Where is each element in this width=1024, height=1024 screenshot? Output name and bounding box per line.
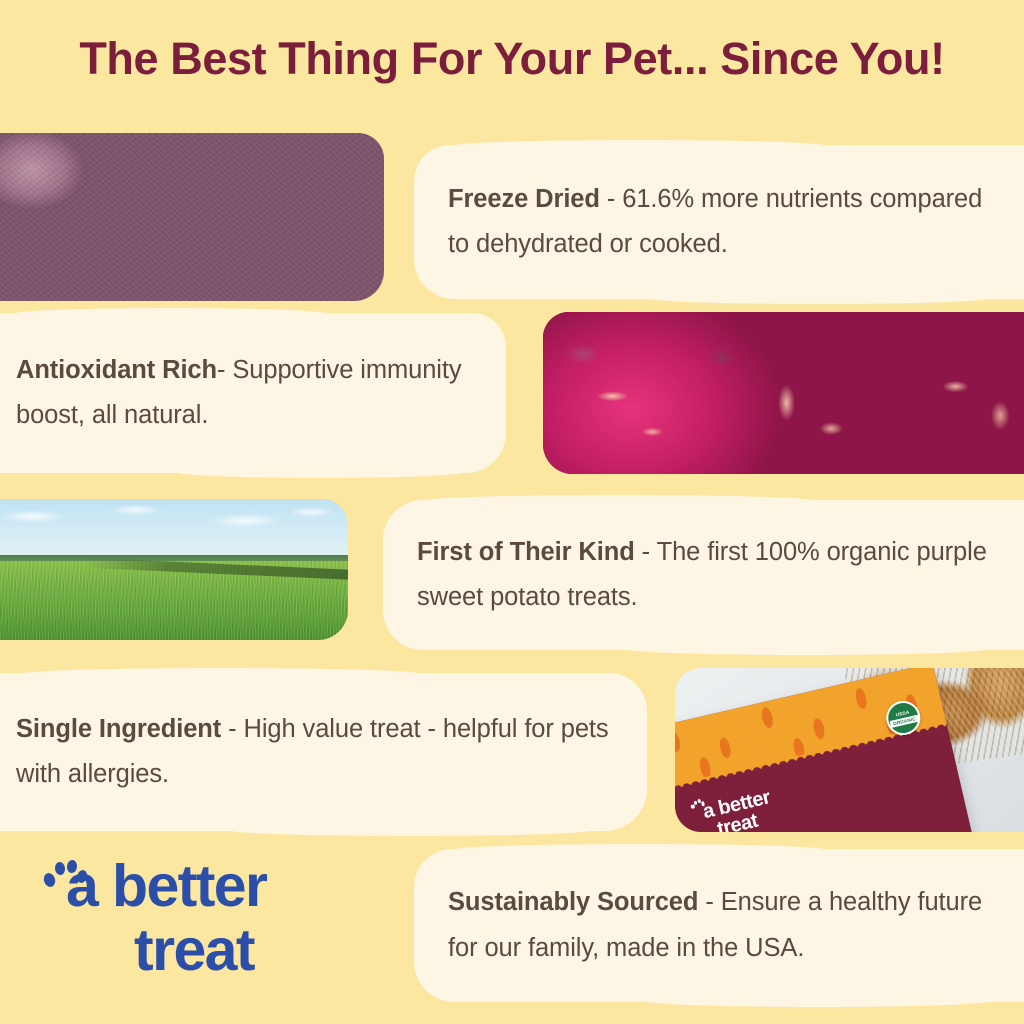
feature-title-freeze-dried: Freeze Dried [448, 185, 600, 213]
freeze-dried-grain [0, 133, 384, 301]
feature-text-antioxidant-rich: Antioxidant Rich- Supportive immunity bo… [0, 348, 506, 439]
feature-card-antioxidant-rich: Antioxidant Rich- Supportive immunity bo… [0, 313, 506, 473]
feature-text-freeze-dried: Freeze Dried - 61.6% more nutrients comp… [414, 177, 1024, 268]
photo-raw-purple-sweet-potatoes [543, 312, 1024, 474]
photo-green-farm-field [0, 499, 348, 640]
feature-card-first-of-their-kind: First of Their Kind - The first 100% org… [383, 500, 1024, 650]
brand-logo: a better treat [38, 856, 368, 996]
feature-text-first-of-their-kind: First of Their Kind - The first 100% org… [383, 530, 1024, 621]
feature-title-first-of-their-kind: First of Their Kind [417, 538, 635, 566]
page-title: The Best Thing For Your Pet... Since You… [0, 34, 1024, 84]
feature-separator-antioxidant-rich: - [217, 356, 232, 384]
feature-card-freeze-dried: Freeze Dried - 61.6% more nutrients comp… [414, 145, 1024, 299]
photo-product-package-with-dog: a better treat ORGANIC SWE FREEZE USDA O… [675, 668, 1024, 832]
feature-card-single-ingredient: Single Ingredient - High value treat - h… [0, 673, 647, 831]
feature-text-single-ingredient: Single Ingredient - High value treat - h… [0, 707, 647, 798]
feature-separator-freeze-dried: - [600, 185, 622, 213]
feature-separator-sustainably-sourced: - [698, 888, 720, 916]
seal-band-text: ORGANIC [890, 715, 919, 728]
photo-freeze-dried-chunks [0, 133, 384, 301]
paw-icon [44, 860, 84, 893]
pouch-brand-logo: a better treat [701, 788, 777, 832]
feature-text-sustainably-sourced: Sustainably Sourced - Ensure a healthy f… [414, 880, 1024, 971]
feature-card-sustainably-sourced: Sustainably Sourced - Ensure a healthy f… [414, 849, 1024, 1002]
feature-title-sustainably-sourced: Sustainably Sourced [448, 888, 698, 916]
sweet-potato-scuff-marks [543, 312, 1024, 474]
feature-separator-single-ingredient: - [221, 715, 243, 743]
field-clouds [0, 502, 348, 539]
feature-title-single-ingredient: Single Ingredient [16, 715, 221, 743]
brand-name-line2: treat [38, 920, 368, 980]
feature-title-antioxidant-rich: Antioxidant Rich [16, 356, 217, 384]
feature-separator-first-of-their-kind: - [635, 538, 657, 566]
infographic-poster: The Best Thing For Your Pet... Since You… [0, 0, 1024, 1024]
brand-name-line1: a better [38, 856, 368, 916]
